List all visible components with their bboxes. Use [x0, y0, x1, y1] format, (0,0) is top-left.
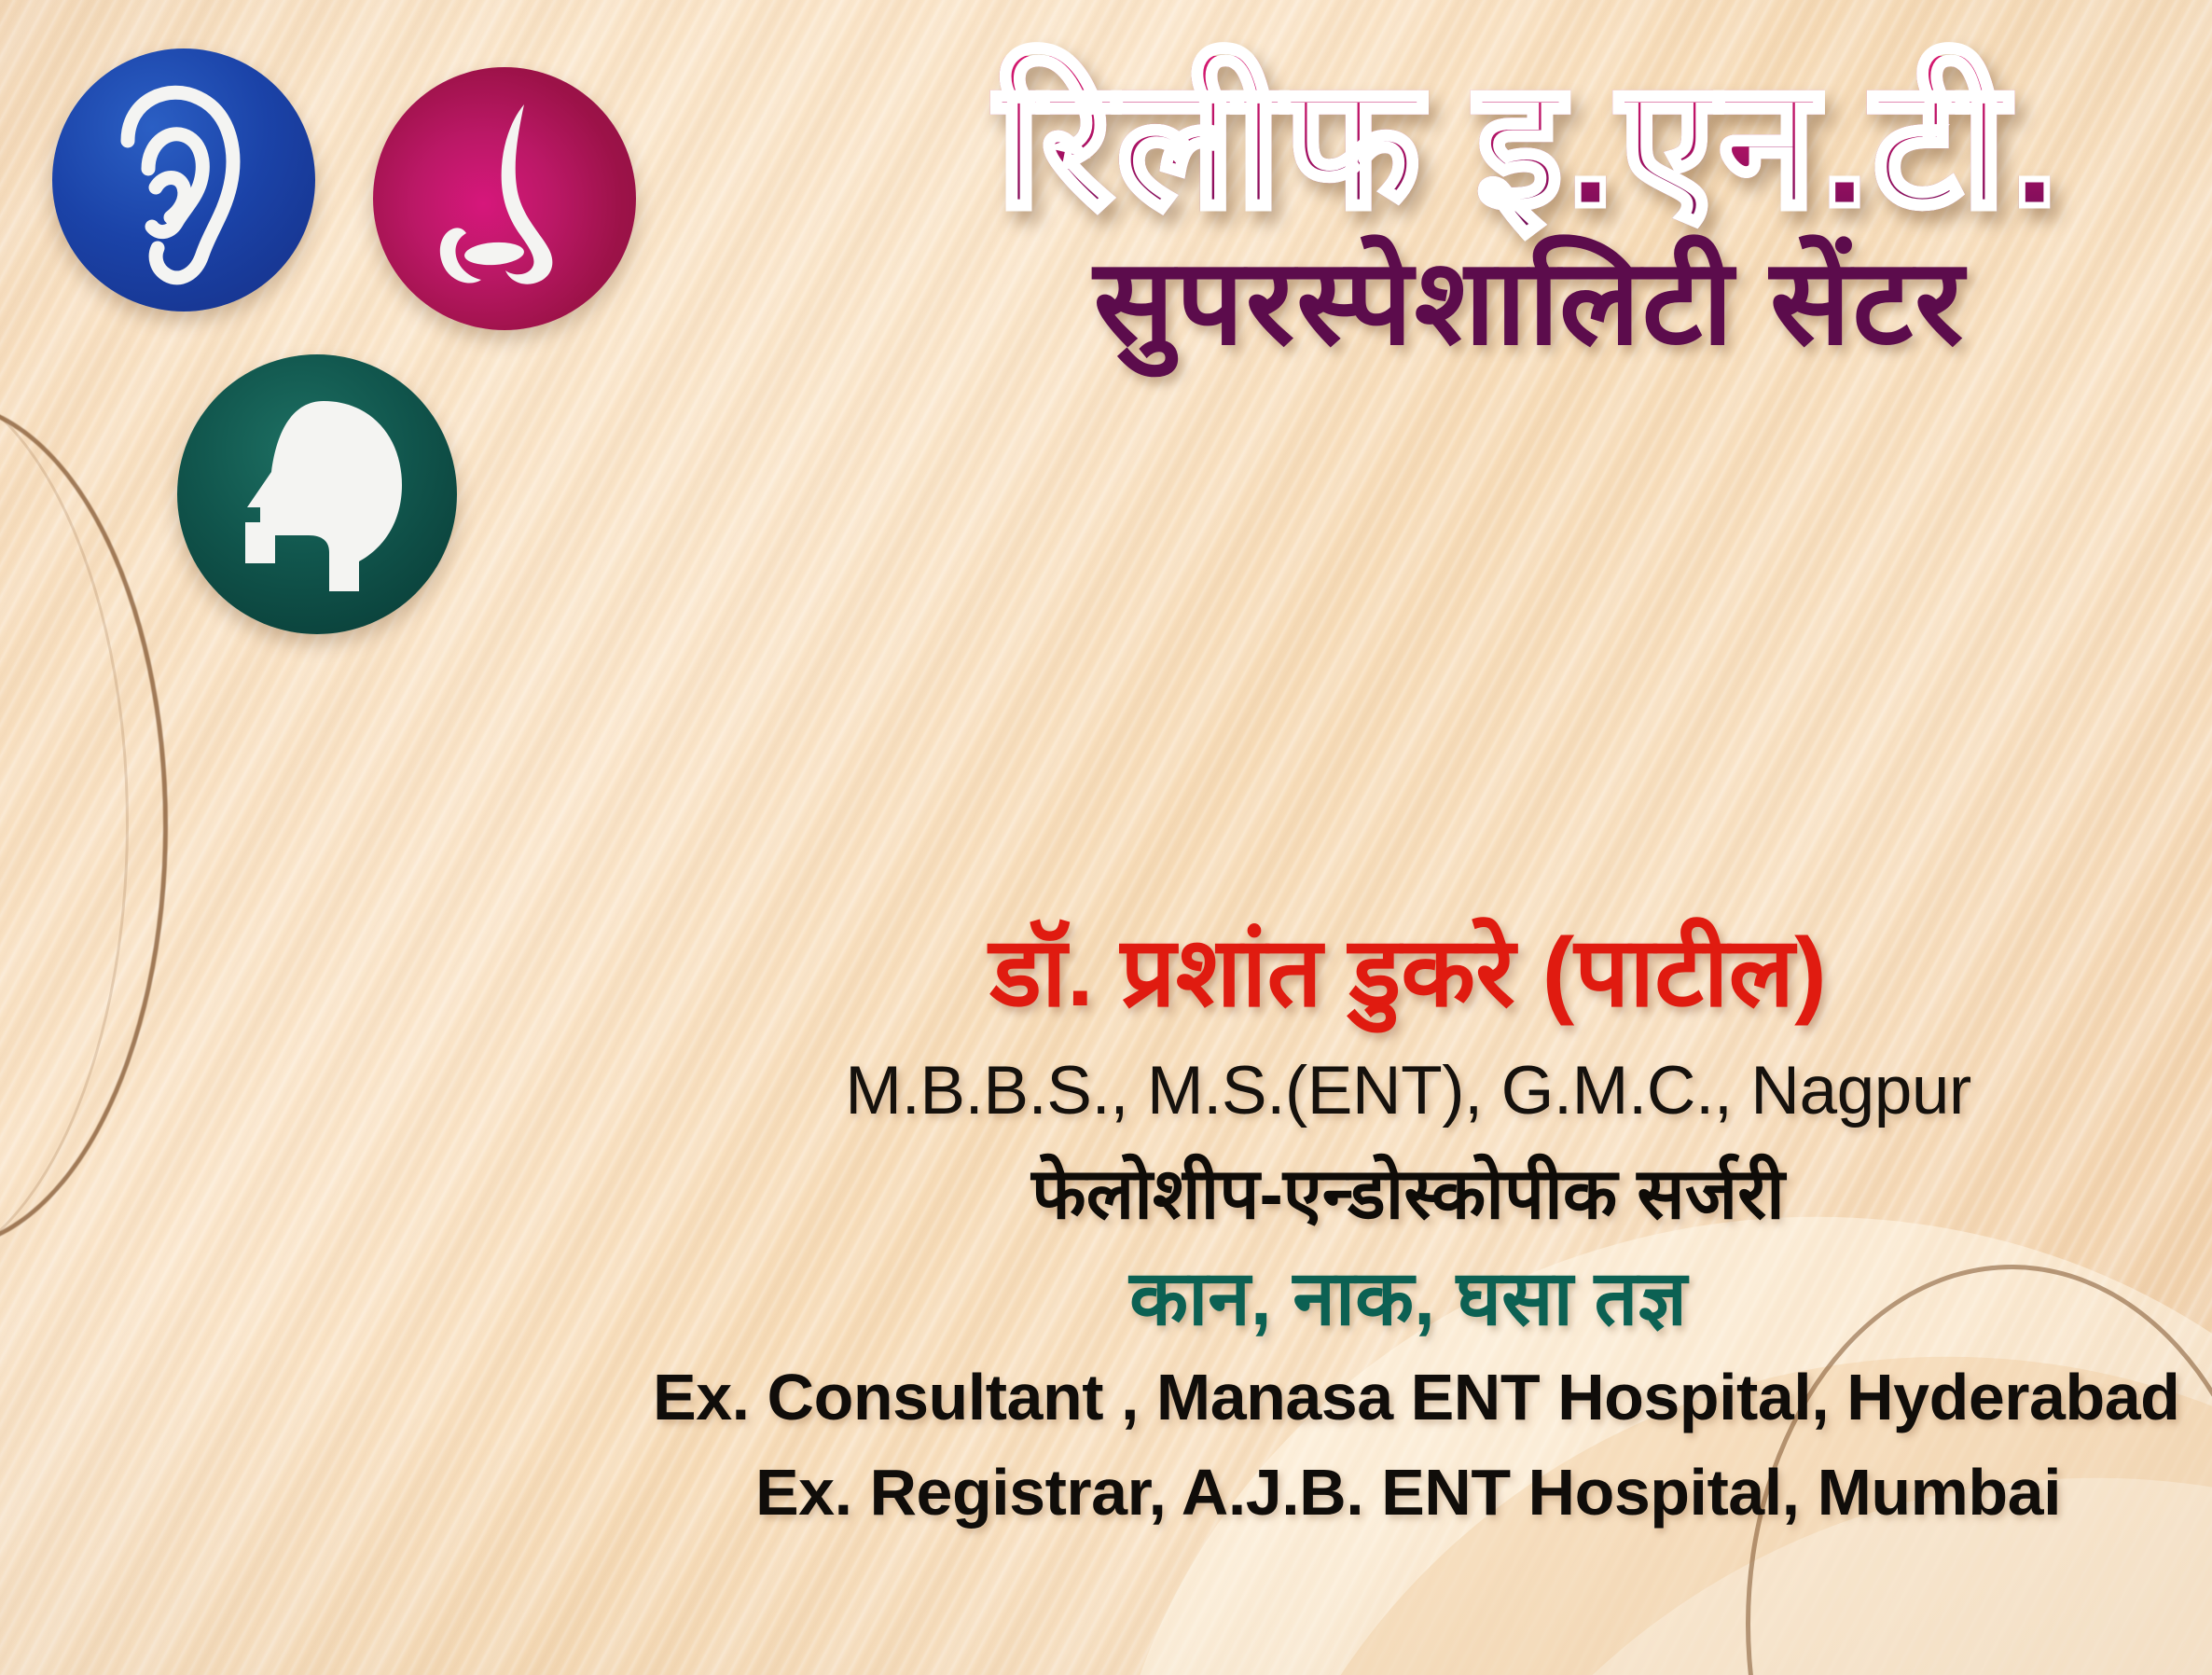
- doctor-name: डॉ. प्रशांत डुकरे (पाटील): [653, 919, 2164, 1027]
- ent-clinic-signboard: रिलीफ इ.एन.टी. सुपरस्पेशालिटी सेंटर डॉ. …: [0, 0, 2212, 1675]
- clinic-title-block: रिलीफ इ.एन.टी. सुपरस्पेशालिटी सेंटर: [895, 56, 2164, 366]
- ear-icon: [52, 48, 315, 311]
- clinic-subtitle: सुपरस्पेशालिटी सेंटर: [895, 241, 2164, 366]
- doctor-qualifications: M.B.B.S., M.S.(ENT), G.M.C., Nagpur: [653, 1051, 2164, 1131]
- throat-icon: [177, 354, 457, 634]
- doctor-details-block: डॉ. प्रशांत डुकरे (पाटील) M.B.B.S., M.S.…: [653, 919, 2164, 1532]
- clinic-name: रिलीफ इ.एन.टी.: [895, 56, 2164, 235]
- doctor-specialty: कान, नाक, घसा तज्ञ: [653, 1254, 2164, 1343]
- nose-icon: [373, 67, 636, 330]
- doctor-fellowship: फेलोशीप-एन्डोस्कोपीक सर्जरी: [653, 1153, 2164, 1237]
- doctor-experience-1: Ex. Consultant , Manasa ENT Hospital, Hy…: [653, 1358, 2164, 1437]
- doctor-experience-2: Ex. Registrar, A.J.B. ENT Hospital, Mumb…: [653, 1453, 2164, 1532]
- ent-icon-cluster: [0, 0, 522, 653]
